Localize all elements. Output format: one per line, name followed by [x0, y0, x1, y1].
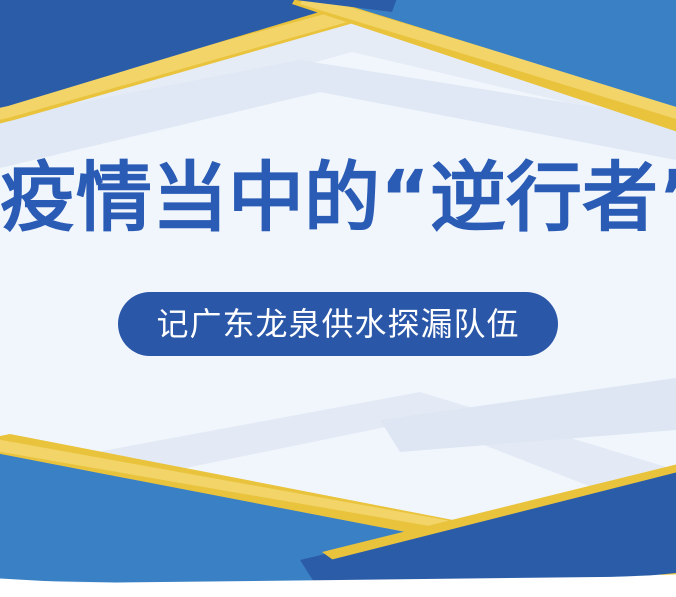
title-container: 疫情当中的“逆行者” — [0, 152, 676, 244]
top-right-light-blue-polygon — [318, 0, 676, 110]
subtitle-pill: 记广东龙泉供水探漏队伍 — [118, 292, 558, 356]
bottom-right-navy-gold-edge — [322, 462, 676, 562]
top-left-gold-band-highlight — [0, 0, 404, 122]
article-banner: 疫情当中的“逆行者” 记广东龙泉供水探漏队伍 — [0, 0, 676, 597]
bottom-left-light-blue-triangle — [0, 452, 676, 594]
bottom-left-gold-band-highlight — [0, 438, 676, 570]
bottom-soft-blue-shade — [0, 392, 676, 520]
top-right-gold-band — [292, 0, 676, 134]
subtitle-container: 记广东龙泉供水探漏队伍 — [0, 292, 676, 356]
bottom-white-strip-2 — [0, 576, 676, 597]
bottom-soft-blue-shade-2 — [380, 378, 676, 452]
bottom-white-strip — [0, 574, 676, 597]
top-soft-blue-shade — [0, 0, 676, 150]
page-title: 疫情当中的“逆行者” — [0, 152, 676, 244]
top-right-gold-band-highlight — [300, 0, 676, 122]
top-center-navy-wedge — [248, 0, 400, 12]
top-left-gold-band — [0, 0, 406, 126]
top-left-navy-polygon — [0, 0, 392, 110]
bottom-right-gold-band — [290, 536, 676, 597]
bottom-right-gold-band-highlight — [300, 536, 676, 597]
bottom-right-navy-top — [330, 470, 676, 566]
bottom-right-navy-polygon — [300, 468, 676, 597]
bottom-left-gold-band — [0, 434, 676, 578]
